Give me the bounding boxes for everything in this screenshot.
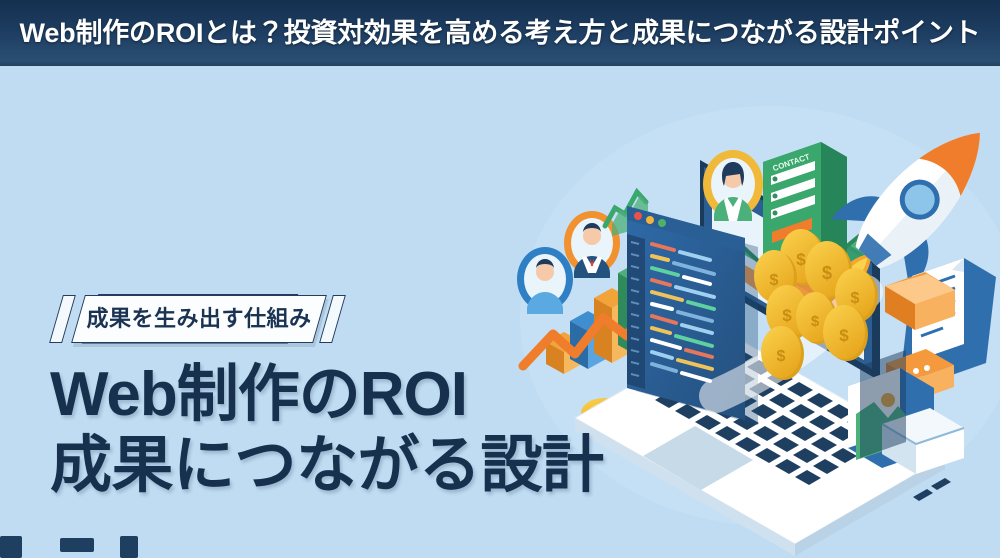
isometric-illustration: $ $ [0,66,1000,558]
svg-text:$: $ [851,290,860,307]
svg-text:$: $ [796,250,806,269]
svg-text:$: $ [782,306,792,325]
svg-text:$: $ [770,272,779,289]
page-title: Web制作のROIとは？投資対効果を高める考え方と成果につながる設計ポイント [20,20,981,47]
svg-text:$: $ [839,326,849,345]
tablet-device [860,350,906,458]
svg-text:$: $ [811,313,820,330]
svg-text:$: $ [822,263,832,283]
hero-canvas: $ $ [0,66,1000,558]
svg-text:$: $ [777,348,786,365]
header-bar: Web制作のROIとは？投資対効果を高める考え方と成果につながる設計ポイント [0,0,1000,66]
hero-banner: Web制作のROIとは？投資対効果を高める考え方と成果につながる設計ポイント [0,0,1000,558]
